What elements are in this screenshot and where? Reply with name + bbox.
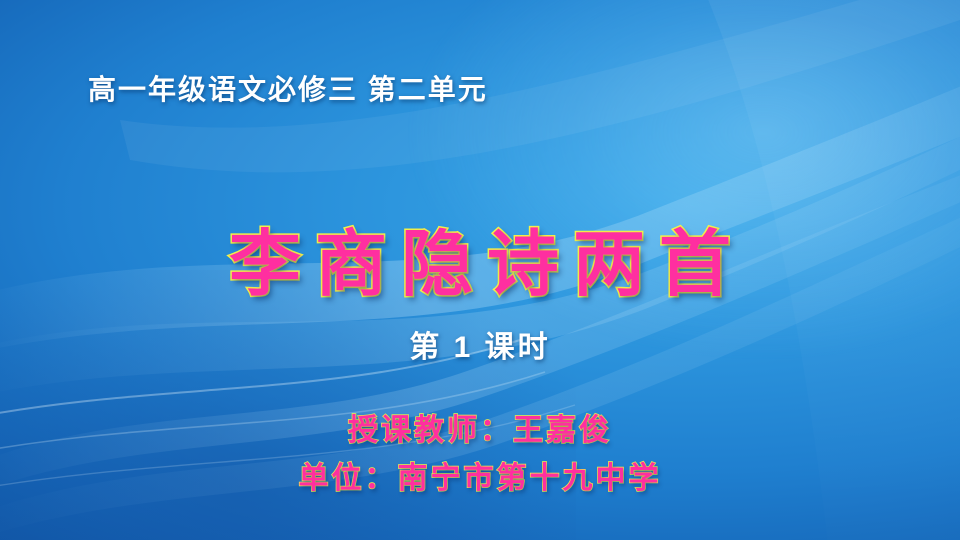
lesson-period-label: 第 1 课时 xyxy=(0,322,960,366)
subject-unit-label: 高一年级语文必修三 第二单元 xyxy=(88,68,488,108)
presentation-slide: 高一年级语文必修三 第二单元 李商隐诗两首 第 1 课时 授课教师：王嘉俊 单位… xyxy=(0,0,960,540)
credits-block: 授课教师：王嘉俊 单位：南宁市第十九中学 xyxy=(0,408,960,502)
page-title: 李商隐诗两首 xyxy=(0,205,960,310)
school-name-label: 单位：南宁市第十九中学 xyxy=(0,456,960,502)
teacher-name-label: 授课教师：王嘉俊 xyxy=(0,408,960,454)
